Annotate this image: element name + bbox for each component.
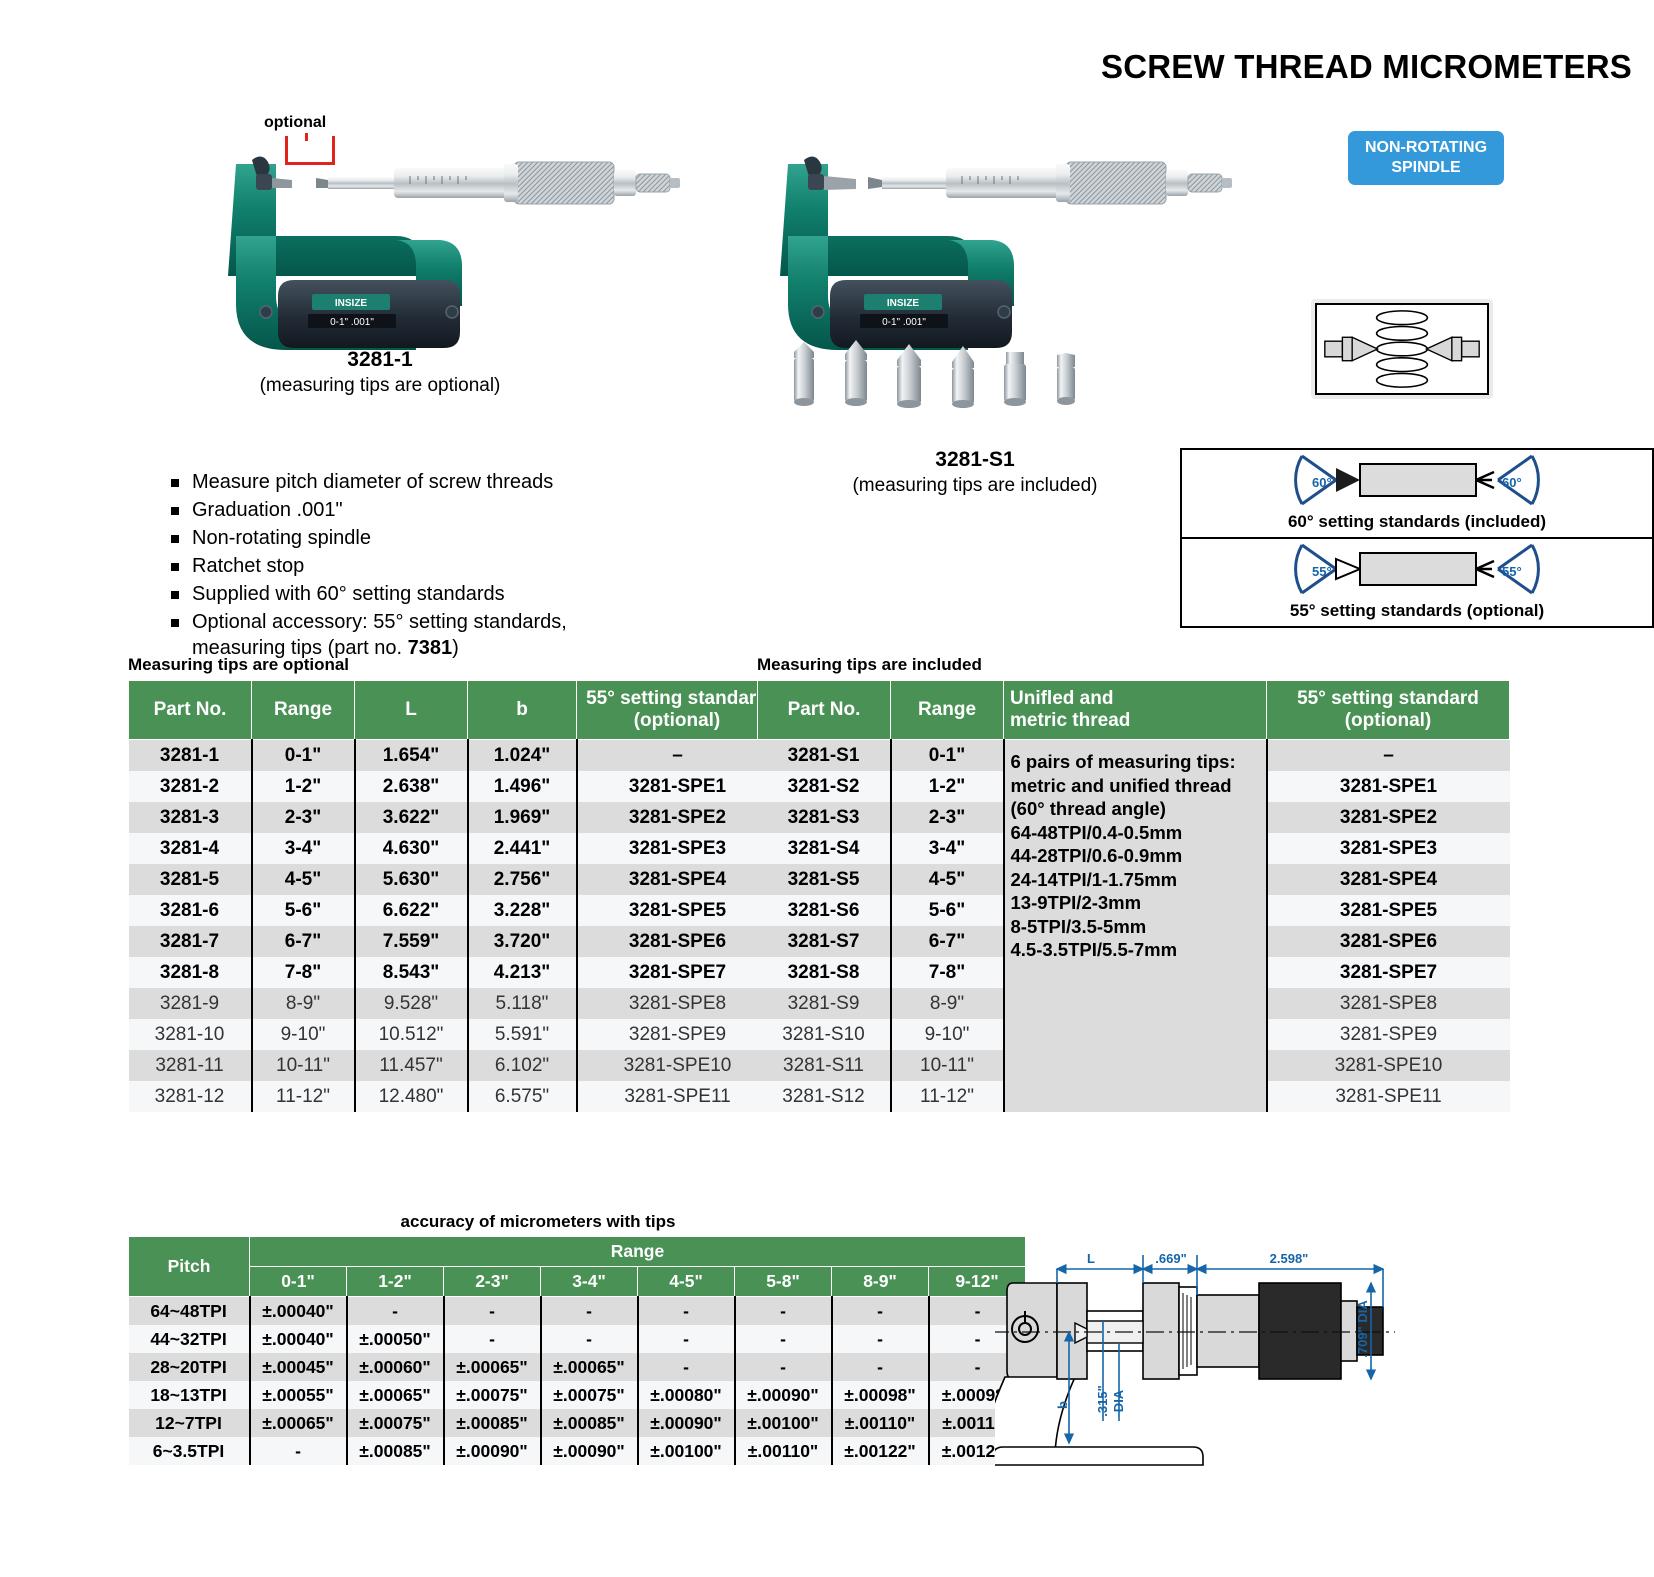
feature-item: Ratchet stop: [168, 554, 567, 580]
cell-accuracy: -: [347, 1297, 444, 1326]
non-rotating-spindle-badge: NON-ROTATING SPINDLE: [1348, 131, 1504, 185]
cell-b: 6.575": [468, 1081, 577, 1112]
cell-accuracy: ±.00065": [444, 1353, 541, 1381]
features-list: Measure pitch diameter of screw threads …: [128, 470, 567, 664]
cell-part-no: 3281-S2: [758, 771, 891, 802]
table-included-title: Measuring tips are included: [757, 655, 1510, 675]
cell-accuracy: ±.00045": [250, 1353, 347, 1381]
cell-range: 2-3": [891, 802, 1004, 833]
cell-l: 7.559": [355, 926, 468, 957]
svg-text:.315": .315": [1095, 1385, 1110, 1416]
cell-l: 10.512": [355, 1019, 468, 1050]
cell-accuracy: ±.00085": [444, 1409, 541, 1437]
cell-accuracy: ±.00085": [541, 1409, 638, 1437]
col-range: Range: [891, 681, 1004, 740]
svg-text:0-1" .001": 0-1" .001": [330, 317, 374, 328]
col-range: Range: [252, 681, 355, 740]
cell-l: 11.457": [355, 1050, 468, 1081]
col-thread-line2: metric thread: [1010, 710, 1130, 731]
col-range-7: 8-9": [832, 1267, 929, 1297]
table-row: 6~3.5TPI-±.00085"±.00090"±.00090"±.00100…: [129, 1437, 1026, 1465]
table-row: 12~7TPI±.00065"±.00075"±.00085"±.00085"±…: [129, 1409, 1026, 1437]
cell-accuracy: ±.00065": [347, 1381, 444, 1409]
left-product-note: (measuring tips are optional): [170, 375, 590, 397]
table-row: 3281-1110-11"11.457"6.102"3281-SPE10: [129, 1050, 778, 1081]
cell-setting-standard: 3281-SPE6: [1267, 926, 1510, 957]
cell-setting-standard: 3281-SPE9: [577, 1019, 778, 1050]
cell-accuracy: -: [638, 1353, 735, 1381]
measuring-tips-image: [790, 336, 1130, 426]
table-optional-body: 3281-10-1"1.654"1.024"–3281-21-2"2.638"1…: [129, 740, 778, 1113]
setting-standard-55-caption: 55° setting standards (optional): [1182, 599, 1652, 626]
cell-part-no: 3281-S9: [758, 988, 891, 1019]
cell-accuracy: ±.00110": [735, 1437, 832, 1465]
cell-accuracy: ±.00110": [832, 1409, 929, 1437]
cell-accuracy: -: [638, 1325, 735, 1353]
cell-l: 5.630": [355, 864, 468, 895]
setting-standard-55-illustration: 55° 55°: [1182, 539, 1652, 599]
setting-standards-box: 60° 60° 60° setting standards (included)…: [1180, 448, 1654, 628]
cell-accuracy: ±.00122": [832, 1437, 929, 1465]
svg-text:DIA: DIA: [1111, 1389, 1126, 1412]
cell-accuracy: ±.00050": [347, 1325, 444, 1353]
cell-accuracy: ±.00080": [638, 1381, 735, 1409]
right-product-part-no: 3281-S1: [760, 448, 1190, 472]
cell-range: 6-7": [891, 926, 1004, 957]
feature-item: Graduation .001": [168, 498, 567, 524]
cell-setting-standard: 3281-SPE8: [577, 988, 778, 1019]
table-row: 3281-32-3"3.622"1.969"3281-SPE2: [129, 802, 778, 833]
cell-range: 11-12": [252, 1081, 355, 1112]
cell-b: 5.118": [468, 988, 577, 1019]
cell-setting-standard: 3281-SPE9: [1267, 1019, 1510, 1050]
cell-accuracy: ±.00098": [832, 1381, 929, 1409]
cell-accuracy: ±.00040": [250, 1325, 347, 1353]
cell-b: 4.213": [468, 957, 577, 988]
setting-standard-60-illustration: 60° 60°: [1182, 450, 1652, 510]
cell-thread-description: 6 pairs of measuring tips:metric and uni…: [1004, 740, 1267, 1113]
thread-description-line: metric and unified thread: [1011, 774, 1260, 798]
left-product-caption: 3281-1 (measuring tips are optional): [170, 348, 590, 397]
cell-setting-standard: 3281-SPE2: [1267, 802, 1510, 833]
cell-part-no: 3281-1: [129, 740, 252, 772]
cell-accuracy: -: [444, 1297, 541, 1326]
cell-part-no: 3281-6: [129, 895, 252, 926]
table-included-wrapper: Measuring tips are included Part No. Ran…: [757, 655, 1510, 1112]
badge-line-2: SPINDLE: [1352, 158, 1500, 178]
table-row: 3281-10-1"1.654"1.024"–: [129, 740, 778, 772]
table-row: 28~20TPI±.00045"±.00060"±.00065"±.00065"…: [129, 1353, 1026, 1381]
svg-text:.669": .669": [1155, 1251, 1186, 1266]
thread-description-line: 64-48TPI/0.4-0.5mm: [1011, 821, 1260, 845]
cell-range: 10-11": [252, 1050, 355, 1081]
setting-standard-55-caption-text: 55° setting standards: [1290, 601, 1462, 620]
cell-l: 3.622": [355, 802, 468, 833]
cell-part-no: 3281-S8: [758, 957, 891, 988]
page-title: SCREW THREAD MICROMETERS: [1101, 48, 1632, 86]
svg-text:55°: 55°: [1312, 564, 1332, 579]
cell-accuracy: -: [250, 1437, 347, 1465]
thread-description-line: 8-5TPI/3.5-5mm: [1011, 915, 1260, 939]
col-range-3: 2-3": [444, 1267, 541, 1297]
setting-standard-55-emphasis: (optional): [1467, 601, 1544, 620]
table-included-body: 3281-S10-1"6 pairs of measuring tips:met…: [758, 740, 1510, 1113]
svg-text:2.598": 2.598": [1270, 1251, 1309, 1266]
thread-description-line: 24-14TPI/1-1.75mm: [1011, 868, 1260, 892]
cell-accuracy: ±.00055": [250, 1381, 347, 1409]
micrometer-3281-1-image: INSIZE 0-1" .001": [200, 130, 720, 350]
svg-text:60°: 60°: [1502, 475, 1522, 490]
cell-b: 6.102": [468, 1050, 577, 1081]
table-row: 3281-109-10"10.512"5.591"3281-SPE9: [129, 1019, 778, 1050]
cell-range: 4-5": [252, 864, 355, 895]
cell-part-no: 3281-S7: [758, 926, 891, 957]
table-row: 3281-54-5"5.630"2.756"3281-SPE4: [129, 864, 778, 895]
cell-range: 3-4": [252, 833, 355, 864]
feature-item-optional-accessory: Optional accessory: 55° setting standard…: [168, 610, 567, 661]
table-row: 3281-21-2"2.638"1.496"3281-SPE1: [129, 771, 778, 802]
cell-range: 8-9": [252, 988, 355, 1019]
table-accuracy: Pitch Range 0-1"1-2"2-3"3-4"4-5"5-8"8-9"…: [128, 1236, 1026, 1465]
svg-text:L: L: [1087, 1251, 1095, 1266]
col-range-6: 5-8": [735, 1267, 832, 1297]
col-range-1: 0-1": [250, 1267, 347, 1297]
cell-setting-standard: 3281-SPE8: [1267, 988, 1510, 1019]
cell-setting-standard: 3281-SPE10: [1267, 1050, 1510, 1081]
col-b: b: [468, 681, 577, 740]
thread-measurement-illustration: [1311, 299, 1493, 399]
col-setting-standard-line2: (optional): [1345, 710, 1432, 731]
feature-optional-line1: Optional accessory: 55° setting standard…: [192, 611, 567, 633]
micrometer-3281-s1-image: INSIZE 0-1" .001": [752, 130, 1272, 350]
cell-pitch: 64~48TPI: [129, 1297, 250, 1326]
table-row: 3281-65-6"6.622"3.228"3281-SPE5: [129, 895, 778, 926]
table-row: 3281-98-9"9.528"5.118"3281-SPE8: [129, 988, 778, 1019]
cell-setting-standard: –: [1267, 740, 1510, 772]
dimension-drawing-svg: L .669" 2.598" b .315" DIA .709" DIA: [995, 1225, 1395, 1470]
cell-range: 11-12": [891, 1081, 1004, 1112]
cell-part-no: 3281-S4: [758, 833, 891, 864]
table-included-header-row: Part No. Range Unifled and metric thread…: [758, 681, 1510, 740]
feature-item: Non-rotating spindle: [168, 526, 567, 552]
cell-b: 1.024": [468, 740, 577, 772]
cell-accuracy: -: [638, 1297, 735, 1326]
cell-l: 1.654": [355, 740, 468, 772]
cell-setting-standard: 3281-SPE5: [577, 895, 778, 926]
cell-setting-standard: 3281-SPE4: [577, 864, 778, 895]
svg-text:INSIZE: INSIZE: [335, 298, 368, 309]
cell-setting-standard: 3281-SPE10: [577, 1050, 778, 1081]
cell-accuracy: -: [735, 1297, 832, 1326]
cell-part-no: 3281-8: [129, 957, 252, 988]
cell-setting-standard: 3281-SPE7: [577, 957, 778, 988]
col-thread-line1: Unifled and: [1010, 688, 1113, 709]
cell-setting-standard: 3281-SPE11: [1267, 1081, 1510, 1112]
cell-part-no: 3281-S11: [758, 1050, 891, 1081]
table-accuracy-body: 64~48TPI±.00040"-------44~32TPI±.00040"±…: [129, 1297, 1026, 1466]
cell-l: 9.528": [355, 988, 468, 1019]
cell-accuracy: ±.00065": [541, 1353, 638, 1381]
setting-standard-60-caption: 60° setting standards (included): [1182, 510, 1652, 537]
setting-standard-60: 60° 60° 60° setting standards (included): [1182, 450, 1652, 539]
svg-text:INSIZE: INSIZE: [887, 298, 920, 309]
cell-range: 0-1": [252, 740, 355, 772]
svg-text:b: b: [1055, 1401, 1070, 1409]
cell-part-no: 3281-5: [129, 864, 252, 895]
cell-accuracy: -: [832, 1325, 929, 1353]
table-row: 3281-S10-1"6 pairs of measuring tips:met…: [758, 740, 1510, 772]
cell-b: 3.228": [468, 895, 577, 926]
cell-setting-standard: 3281-SPE3: [577, 833, 778, 864]
cell-accuracy: ±.00060": [347, 1353, 444, 1381]
table-accuracy-header-row: 0-1"1-2"2-3"3-4"4-5"5-8"8-9"9-12": [129, 1267, 1026, 1297]
col-unified-metric-thread: Unifled and metric thread: [1004, 681, 1267, 740]
cell-range: 7-8": [891, 957, 1004, 988]
cell-b: 1.496": [468, 771, 577, 802]
table-optional-header-row: Part No. Range L b 55° setting standard …: [129, 681, 778, 740]
thread-description-line: (60° thread angle): [1011, 797, 1260, 821]
cell-accuracy: ±.00075": [347, 1409, 444, 1437]
table-included: Part No. Range Unifled and metric thread…: [757, 680, 1510, 1112]
dimension-drawing: L .669" 2.598" b .315" DIA .709" DIA: [995, 1225, 1395, 1470]
cell-accuracy: ±.00090": [638, 1409, 735, 1437]
cell-l: 12.480": [355, 1081, 468, 1112]
table-row: 3281-43-4"4.630"2.441"3281-SPE3: [129, 833, 778, 864]
cell-accuracy: -: [735, 1325, 832, 1353]
cell-accuracy: ±.00040": [250, 1297, 347, 1326]
cell-range: 10-11": [891, 1050, 1004, 1081]
thread-description-line: 44-28TPI/0.6-0.9mm: [1011, 844, 1260, 868]
cell-part-no: 3281-10: [129, 1019, 252, 1050]
cell-part-no: 3281-7: [129, 926, 252, 957]
table-accuracy-wrapper: accuracy of micrometers with tips Pitch …: [128, 1212, 1026, 1465]
col-range-5: 4-5": [638, 1267, 735, 1297]
cell-accuracy: ±.00090": [735, 1381, 832, 1409]
cell-accuracy: -: [735, 1353, 832, 1381]
cell-range: 8-9": [891, 988, 1004, 1019]
col-range-2: 1-2": [347, 1267, 444, 1297]
cell-l: 6.622": [355, 895, 468, 926]
col-setting-standard: 55° setting standard (optional): [1267, 681, 1510, 740]
cell-part-no: 3281-2: [129, 771, 252, 802]
cell-b: 3.720": [468, 926, 577, 957]
table-accuracy-title: accuracy of micrometers with tips: [128, 1212, 948, 1232]
cell-part-no: 3281-9: [129, 988, 252, 1019]
cell-accuracy: -: [541, 1297, 638, 1326]
cell-setting-standard: 3281-SPE2: [577, 802, 778, 833]
cell-l: 8.543": [355, 957, 468, 988]
cell-setting-standard: 3281-SPE11: [577, 1081, 778, 1112]
feature-item: Measure pitch diameter of screw threads: [168, 470, 567, 496]
col-pitch: Pitch: [129, 1237, 250, 1297]
col-range-4: 3-4": [541, 1267, 638, 1297]
cell-accuracy: ±.00090": [541, 1437, 638, 1465]
cell-accuracy: ±.00100": [735, 1409, 832, 1437]
cell-setting-standard: 3281-SPE6: [577, 926, 778, 957]
cell-range: 4-5": [891, 864, 1004, 895]
cell-range: 1-2": [891, 771, 1004, 802]
cell-pitch: 18~13TPI: [129, 1381, 250, 1409]
table-row: 18~13TPI±.00055"±.00065"±.00075"±.00075"…: [129, 1381, 1026, 1409]
badge-line-1: NON-ROTATING: [1352, 138, 1500, 158]
cell-range: 9-10": [252, 1019, 355, 1050]
cell-range: 5-6": [252, 895, 355, 926]
cell-part-no: 3281-S1: [758, 740, 891, 772]
cell-range: 6-7": [252, 926, 355, 957]
cell-l: 2.638": [355, 771, 468, 802]
col-setting-standard-line1: 55° setting standard: [1297, 688, 1479, 709]
setting-standard-55: 55° 55° 55° setting standards (optional): [1182, 539, 1652, 626]
cell-part-no: 3281-S12: [758, 1081, 891, 1112]
cell-part-no: 3281-12: [129, 1081, 252, 1112]
cell-pitch: 12~7TPI: [129, 1409, 250, 1437]
thread-diagram-svg: [1317, 305, 1487, 393]
cell-part-no: 3281-11: [129, 1050, 252, 1081]
cell-b: 5.591": [468, 1019, 577, 1050]
table-optional: Part No. Range L b 55° setting standard …: [128, 680, 778, 1112]
col-setting-standard: 55° setting standard (optional): [577, 681, 778, 740]
cell-part-no: 3281-S5: [758, 864, 891, 895]
svg-text:55°: 55°: [1502, 564, 1522, 579]
table-optional-title: Measuring tips are optional: [128, 655, 778, 675]
table-row: 44~32TPI±.00040"±.00050"------: [129, 1325, 1026, 1353]
cell-part-no: 3281-S6: [758, 895, 891, 926]
cell-accuracy: -: [832, 1297, 929, 1326]
cell-pitch: 28~20TPI: [129, 1353, 250, 1381]
cell-b: 2.441": [468, 833, 577, 864]
cell-part-no: 3281-4: [129, 833, 252, 864]
cell-setting-standard: 3281-SPE3: [1267, 833, 1510, 864]
cell-pitch: 6~3.5TPI: [129, 1437, 250, 1465]
svg-text:0-1" .001": 0-1" .001": [882, 317, 926, 328]
table-accuracy-header-group-row: Pitch Range: [129, 1237, 1026, 1267]
cell-pitch: 44~32TPI: [129, 1325, 250, 1353]
svg-text:.709" DIA: .709" DIA: [1355, 1300, 1370, 1358]
thread-description-line: 6 pairs of measuring tips:: [1011, 750, 1260, 774]
cell-accuracy: ±.00065": [250, 1409, 347, 1437]
col-setting-standard-line2: (optional): [634, 710, 721, 731]
cell-setting-standard: 3281-SPE4: [1267, 864, 1510, 895]
right-product-note: (measuring tips are included): [760, 475, 1190, 497]
cell-setting-standard: 3281-SPE1: [1267, 771, 1510, 802]
right-product-caption: 3281-S1 (measuring tips are included): [760, 448, 1190, 497]
cell-accuracy: -: [541, 1325, 638, 1353]
table-optional-wrapper: Measuring tips are optional Part No. Ran…: [128, 655, 778, 1112]
col-l: L: [355, 681, 468, 740]
cell-accuracy: ±.00100": [638, 1437, 735, 1465]
thread-description-line: 4.5-3.5TPI/5.5-7mm: [1011, 938, 1260, 962]
svg-text:60°: 60°: [1312, 475, 1332, 490]
cell-range: 5-6": [891, 895, 1004, 926]
table-row: 3281-1211-12"12.480"6.575"3281-SPE11: [129, 1081, 778, 1112]
cell-range: 2-3": [252, 802, 355, 833]
col-range-group: Range: [250, 1237, 1026, 1267]
left-product-part-no: 3281-1: [170, 348, 590, 372]
cell-part-no: 3281-3: [129, 802, 252, 833]
cell-accuracy: -: [444, 1325, 541, 1353]
table-row: 64~48TPI±.00040"-------: [129, 1297, 1026, 1326]
cell-range: 0-1": [891, 740, 1004, 772]
cell-range: 1-2": [252, 771, 355, 802]
col-setting-standard-line1: 55° setting standard: [586, 688, 768, 709]
cell-l: 4.630": [355, 833, 468, 864]
table-row: 3281-76-7"7.559"3.720"3281-SPE6: [129, 926, 778, 957]
cell-setting-standard: 3281-SPE1: [577, 771, 778, 802]
table-row: 3281-87-8"8.543"4.213"3281-SPE7: [129, 957, 778, 988]
cell-range: 3-4": [891, 833, 1004, 864]
cell-setting-standard: 3281-SPE5: [1267, 895, 1510, 926]
thread-description-line: 13-9TPI/2-3mm: [1011, 891, 1260, 915]
col-part-no: Part No.: [758, 681, 891, 740]
cell-part-no: 3281-S10: [758, 1019, 891, 1050]
cell-b: 2.756": [468, 864, 577, 895]
cell-accuracy: ±.00075": [444, 1381, 541, 1409]
cell-accuracy: -: [832, 1353, 929, 1381]
cell-range: 7-8": [252, 957, 355, 988]
feature-item: Supplied with 60° setting standards: [168, 582, 567, 608]
cell-setting-standard: 3281-SPE7: [1267, 957, 1510, 988]
cell-part-no: 3281-S3: [758, 802, 891, 833]
col-part-no: Part No.: [129, 681, 252, 740]
cell-accuracy: ±.00090": [444, 1437, 541, 1465]
cell-accuracy: ±.00085": [347, 1437, 444, 1465]
cell-accuracy: ±.00075": [541, 1381, 638, 1409]
cell-setting-standard: –: [577, 740, 778, 772]
cell-range: 9-10": [891, 1019, 1004, 1050]
cell-b: 1.969": [468, 802, 577, 833]
